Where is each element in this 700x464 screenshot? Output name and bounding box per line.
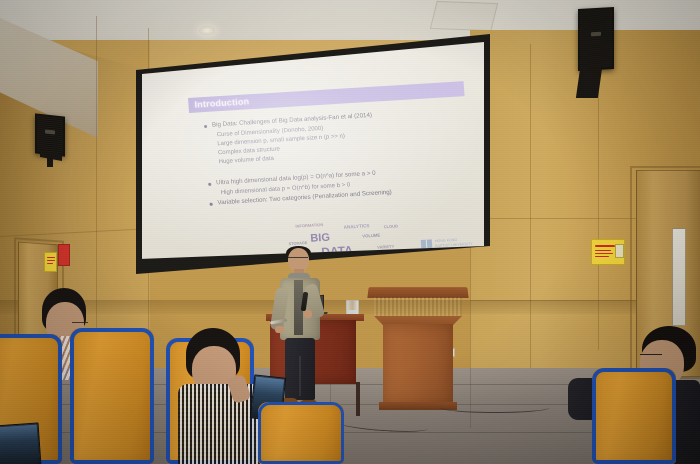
safety-sign-left-red — [58, 244, 70, 266]
podium-body — [383, 324, 453, 404]
ceiling-access-panel — [430, 1, 498, 31]
glasses-icon — [72, 322, 88, 327]
wordcloud-word: INFORMATION — [295, 222, 323, 229]
warning-pictogram — [615, 244, 624, 258]
wordcloud-word: BIG — [310, 232, 330, 245]
wordcloud-word: ANALYTICS — [343, 223, 369, 230]
presentation-slide: Introduction Big Data: Challenges of Big… — [188, 80, 484, 268]
slide-bullet-list: Big Data: Challenges of Big Data analysi… — [204, 105, 480, 210]
glasses-icon — [640, 354, 662, 359]
speaker-grille — [37, 116, 63, 155]
ceiling-light-icon — [199, 26, 215, 35]
wordcloud-word: CLOUD — [384, 223, 399, 229]
presenter-leg-split — [299, 356, 301, 396]
presenter-hand-right — [304, 310, 312, 318]
warning-sign-right-yellow — [591, 239, 625, 265]
table-leg — [356, 382, 360, 416]
speaker-grille — [580, 9, 612, 69]
presenter-hand-left — [275, 326, 284, 333]
wooden-podium — [372, 287, 464, 415]
floor-seam — [470, 368, 471, 428]
wordcloud-word: VARIETY — [377, 244, 394, 250]
seat-frame — [70, 328, 154, 464]
laptop-screen — [0, 425, 39, 464]
auditorium-seat[interactable] — [592, 368, 676, 464]
projection-screen: Introduction Big Data: Challenges of Big… — [142, 40, 484, 268]
auditorium-seat[interactable] — [258, 402, 344, 464]
glasses-icon — [288, 257, 308, 262]
seat-frame — [258, 402, 344, 464]
podium-neck — [374, 297, 462, 317]
speaker-mount-arm-left — [47, 154, 53, 167]
wordcloud-word: VOLUME — [362, 233, 380, 239]
speaker-mount-bracket-right — [576, 68, 602, 98]
speaker-brand-badge — [591, 32, 601, 37]
seat-frame — [592, 368, 676, 464]
safety-sign-left-yellow — [44, 252, 57, 272]
ceiling-speaker-right — [578, 7, 614, 71]
foreground-laptop[interactable] — [0, 422, 41, 464]
wall-seam — [530, 44, 531, 374]
door-right-glass-panel — [672, 228, 686, 326]
auditorium-seat[interactable] — [70, 328, 154, 464]
presentation-photo-scene: Introduction Big Data: Challenges of Big… — [0, 0, 700, 464]
floor-cable — [440, 402, 550, 413]
